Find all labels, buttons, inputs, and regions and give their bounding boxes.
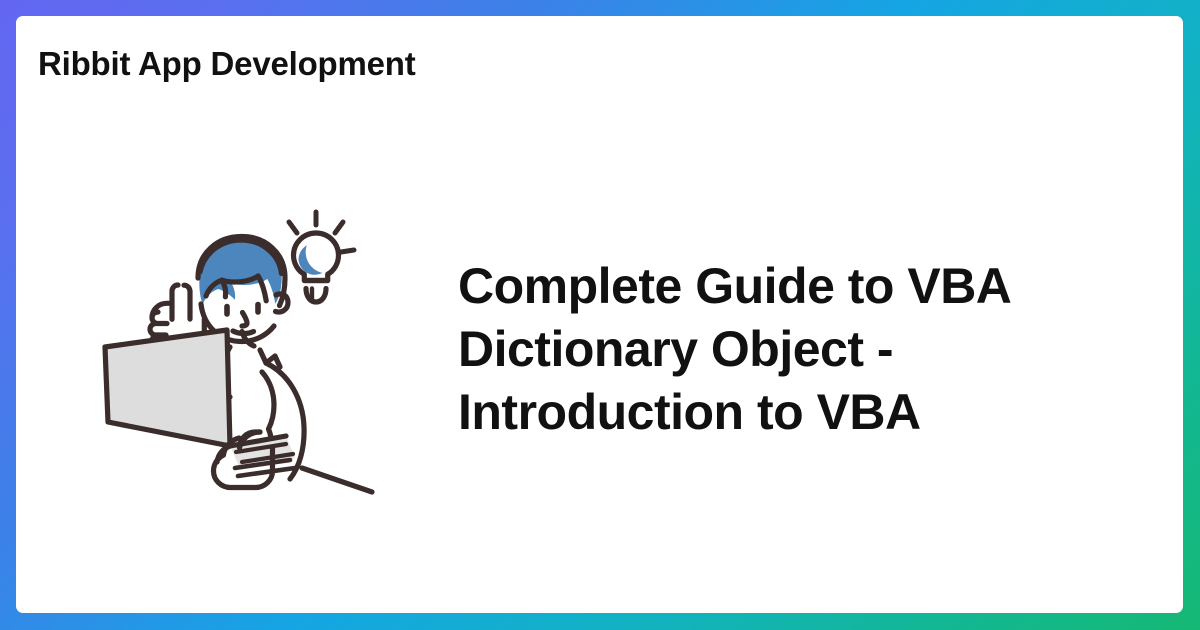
card-header: Ribbit App Development [38, 44, 1161, 104]
article-title-line-1: Complete Guide to VBA [458, 258, 1011, 314]
article-title-line-2: Dictionary Object - [458, 321, 893, 377]
headline-area: Complete Guide to VBA Dictionary Object … [440, 255, 1159, 444]
gradient-border-frame: Ribbit App Development [0, 0, 1200, 630]
illustration [40, 185, 440, 515]
lightbulb-icon [294, 233, 339, 302]
person-at-laptop-with-idea-icon [90, 200, 390, 500]
article-title-line-3: Introduction to VBA [458, 384, 921, 440]
card-body: Complete Guide to VBA Dictionary Object … [16, 126, 1183, 613]
preview-card: Ribbit App Development [16, 16, 1183, 613]
laptop-icon [105, 330, 295, 476]
site-name: Ribbit App Development [38, 44, 1161, 84]
article-title: Complete Guide to VBA Dictionary Object … [458, 255, 1018, 444]
desk-line-icon [302, 468, 372, 492]
